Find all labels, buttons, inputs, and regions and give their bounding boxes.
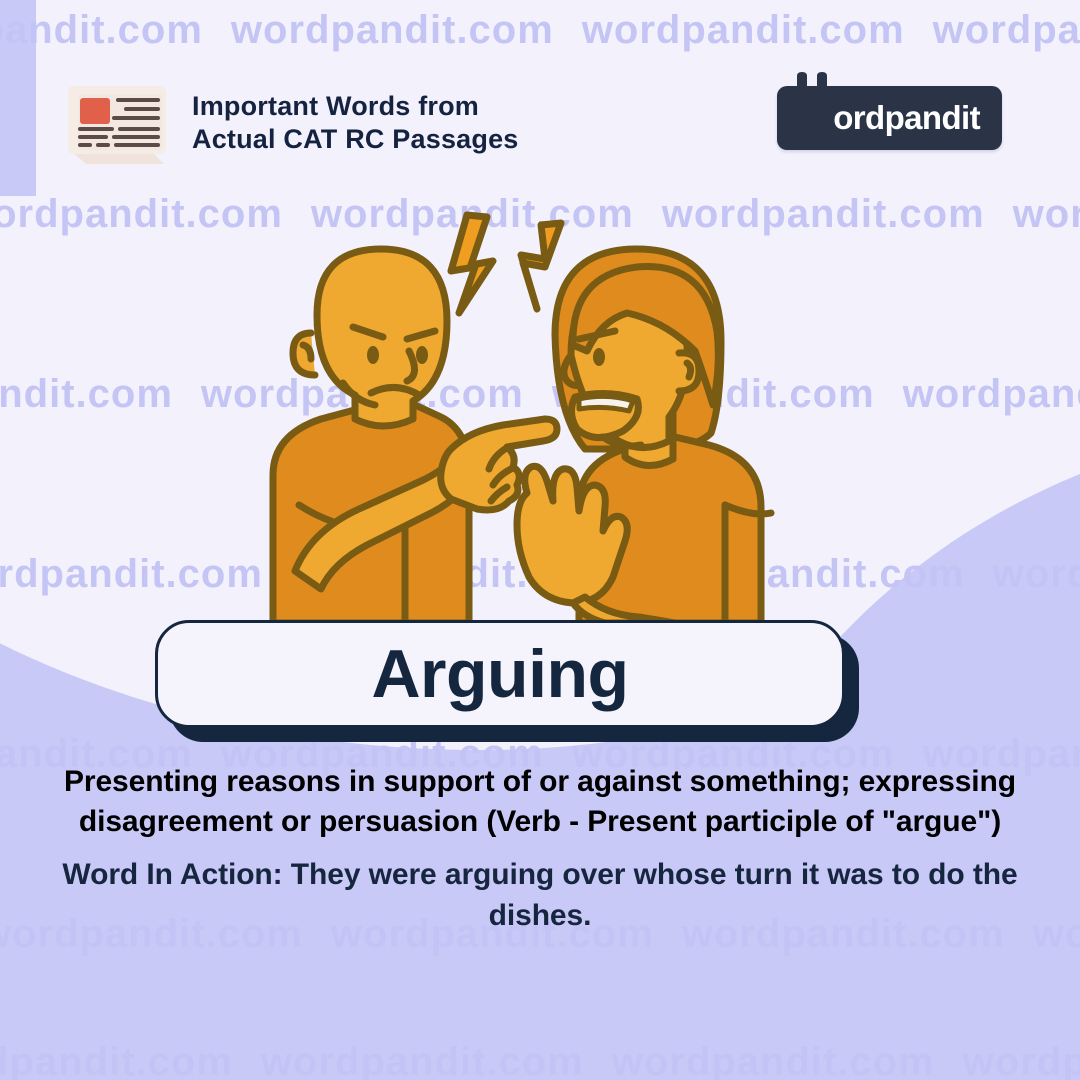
word-in-action: Word In Action: They were arguing over w…: [30, 854, 1050, 936]
poster-canvas: wordpandit.comwordpandit.comwordpandit.c…: [0, 0, 1080, 1080]
lightning-bolt-left: [451, 215, 493, 313]
vocabulary-word: Arguing: [371, 640, 628, 708]
poster-header: Important Words from Actual CAT RC Passa…: [0, 0, 1080, 190]
page-title-line2: Actual CAT RC Passages: [192, 123, 519, 156]
newspaper-icon: [56, 68, 174, 174]
page-title-line1: Important Words from: [192, 91, 479, 121]
logo-text: ordpandit: [833, 99, 980, 137]
word-card: Arguing: [155, 620, 845, 735]
lightning-bolt-right: [521, 223, 561, 309]
wordpandit-logo[interactable]: ordpandit: [777, 86, 1002, 150]
bookmark-w-icon: [793, 72, 831, 138]
word-definition: Presenting reasons in support of or agai…: [30, 762, 1050, 842]
page-title: Important Words from Actual CAT RC Passa…: [192, 90, 519, 156]
word-card-body: Arguing: [155, 620, 845, 728]
meaning-block: Presenting reasons in support of or agai…: [30, 762, 1050, 936]
bald-man-pointing-finger: [273, 249, 557, 623]
two-people-arguing-illustration: [255, 205, 775, 625]
